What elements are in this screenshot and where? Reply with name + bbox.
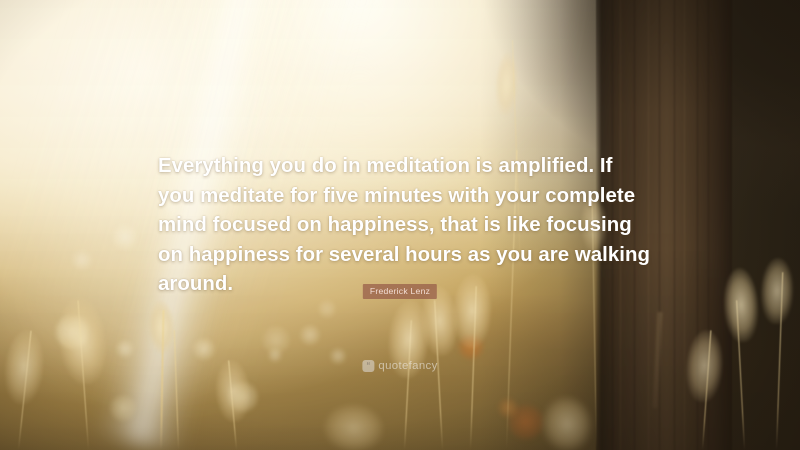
quote-wallpaper: Everything you do in meditation is ampli…: [0, 0, 800, 450]
quote-block: Everything you do in meditation is ampli…: [158, 152, 650, 300]
quotation-mark-icon: “: [362, 360, 374, 372]
quotefancy-watermark[interactable]: “ quotefancy: [362, 360, 437, 372]
watermark-brand-label: quotefancy: [378, 360, 437, 372]
quote-text: Everything you do in meditation is ampli…: [158, 152, 650, 300]
attribution-wrap: Frederick Lenz: [363, 281, 437, 299]
author-attribution[interactable]: Frederick Lenz: [363, 284, 437, 299]
